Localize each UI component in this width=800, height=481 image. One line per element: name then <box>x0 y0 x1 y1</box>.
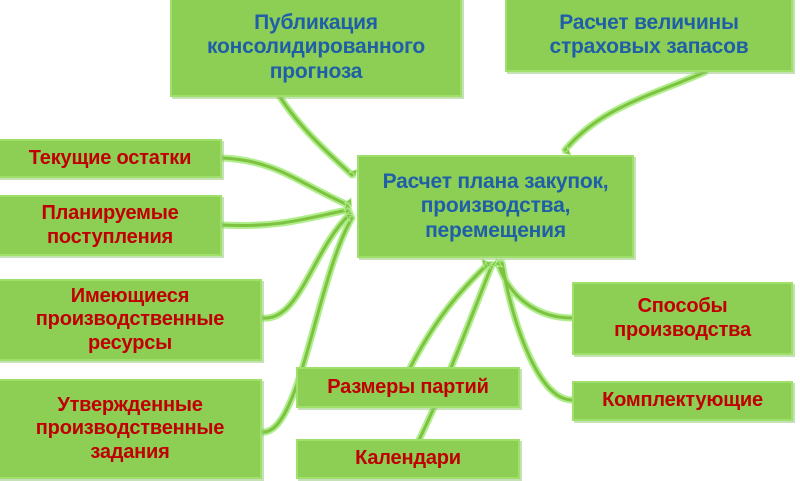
node-approved-tasks[interactable]: Утвержденные производственные задания <box>0 379 262 479</box>
node-planned-receipts[interactable]: Планируемые поступления <box>0 195 222 256</box>
diagram-canvas: Публикация консолидированного прогноза Р… <box>0 0 800 481</box>
node-safety-stock[interactable]: Расчет величины страховых запасов <box>505 0 793 72</box>
node-label: Комплектующие <box>574 389 791 412</box>
node-label: Публикация консолидированного прогноза <box>172 11 460 84</box>
node-batch-sizes[interactable]: Размеры партий <box>296 367 520 408</box>
connector-calendars-to-center <box>410 265 492 458</box>
node-available-resources[interactable]: Имеющиеся производственные ресурсы <box>0 279 262 361</box>
node-label: Календари <box>298 447 518 470</box>
connector-publication-to-center <box>280 97 352 175</box>
node-label: Способы производства <box>574 295 791 341</box>
node-label: Планируемые поступления <box>0 202 220 248</box>
node-publication-forecast[interactable]: Публикация консолидированного прогноза <box>170 0 462 97</box>
node-label: Расчет плана закупок, производства, пере… <box>359 170 632 243</box>
node-label: Размеры партий <box>298 376 518 399</box>
node-current-balances[interactable]: Текущие остатки <box>0 139 222 178</box>
node-label: Имеющиеся производственные ресурсы <box>0 285 260 355</box>
node-label: Текущие остатки <box>0 147 220 170</box>
node-label: Утвержденные производственные задания <box>0 394 260 464</box>
node-components[interactable]: Комплектующие <box>572 381 793 421</box>
node-center-plan-calculation[interactable]: Расчет плана закупок, производства, пере… <box>357 155 634 258</box>
node-label: Расчет величины страховых запасов <box>507 11 791 60</box>
connector-balances-to-center <box>222 158 348 205</box>
connector-batchsizes-to-center <box>410 265 487 368</box>
node-production-methods[interactable]: Способы производства <box>572 282 793 355</box>
connector-methods-to-center <box>498 263 572 318</box>
connector-receipts-to-center <box>222 210 348 226</box>
connector-safetystock-to-center <box>565 72 705 150</box>
connector-resources-to-center <box>262 214 350 318</box>
node-calendars[interactable]: Календари <box>296 439 520 479</box>
